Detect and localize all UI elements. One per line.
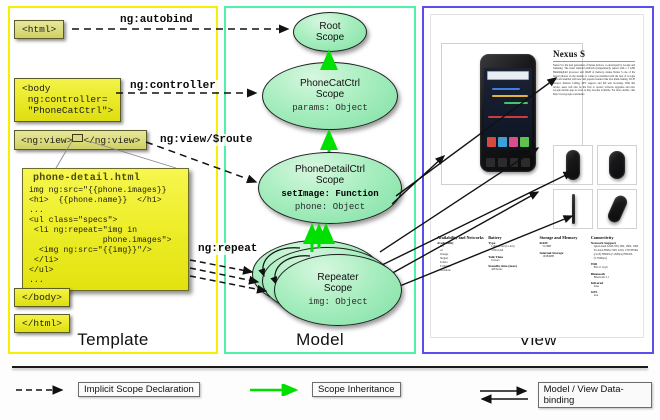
spec-val-wifi: 802.11 b/g/n bbox=[591, 266, 639, 270]
phone-back-icon bbox=[609, 151, 625, 179]
product-info: Nexus S Nexus S is the next generation o… bbox=[553, 49, 635, 97]
title-divider bbox=[553, 61, 635, 62]
scope-prop-setimage-text: setImage: Function bbox=[281, 189, 378, 199]
code-box-html-close: </html> bbox=[14, 314, 70, 333]
product-description: Nexus S is the next generation of Nexus … bbox=[553, 64, 635, 97]
spec-table: Availability and Networks Availability M… bbox=[437, 235, 639, 298]
thumbnail-grid bbox=[553, 145, 637, 229]
phone-front-icon bbox=[566, 150, 580, 180]
spec-val-bluetooth: Bluetooth 2.1 bbox=[591, 276, 639, 280]
spec-column-battery: Battery Type Lithium Ion (Li-Ion) 1500 m… bbox=[488, 235, 536, 298]
connector-label-ng-repeat: ng:repeat bbox=[196, 243, 259, 255]
legend-item-model-view-data-binding: Model / View Data-binding bbox=[478, 382, 652, 408]
spec-value: 1500 mAh bbox=[491, 249, 503, 252]
thumbnail-phone-front[interactable] bbox=[553, 145, 593, 185]
product-title: Nexus S bbox=[553, 49, 635, 59]
diagram-canvas: Template Model View <html> <body ng:cont… bbox=[0, 0, 660, 420]
thumbnail-phone-back[interactable] bbox=[597, 145, 637, 185]
spec-value: Singtel bbox=[440, 257, 448, 260]
connector-label-ng-autobind: ng:autobind bbox=[118, 14, 195, 26]
legend-label-model-view-data-binding: Model / View Data-binding bbox=[538, 382, 652, 408]
scope-title-repeater: Repeater Scope bbox=[317, 272, 358, 294]
ng-view-placeholder-icon bbox=[72, 134, 83, 142]
spec-val-ram: 512MB bbox=[540, 245, 588, 249]
spec-value: M1 bbox=[440, 245, 444, 248]
scope-bubble-phonecatctrl: PhoneCatCtrl Scope params: Object bbox=[262, 62, 398, 130]
spec-val-network: Quad-band GSM: 850, 900, 1800, 1900 Ex-b… bbox=[591, 245, 639, 261]
phone-app-dock bbox=[487, 137, 529, 147]
phone-side-icon bbox=[572, 194, 575, 224]
legend-item-scope-inheritance: Scope Inheritance bbox=[248, 382, 401, 397]
spec-value: Lithium Ion (Li-Ion) bbox=[491, 245, 514, 248]
code-box-html-open: <html> bbox=[14, 20, 64, 39]
scope-bubble-root: Root Scope bbox=[293, 12, 367, 52]
legend-icon-double-arrow bbox=[478, 386, 532, 404]
scope-prop-params: params: Object bbox=[292, 103, 368, 113]
spec-value: Vodafone bbox=[440, 269, 451, 272]
spec-value: Telstra bbox=[440, 261, 448, 264]
code-box-body-close: </body> bbox=[14, 288, 70, 307]
spec-value: o2 bbox=[440, 249, 443, 252]
rendered-page: Nexus S Nexus S is the next generation o… bbox=[430, 14, 644, 338]
column-label-model: Model bbox=[226, 330, 414, 350]
legend-label-scope-inheritance: Scope Inheritance bbox=[312, 382, 401, 397]
ng-view-open-tag: <ng:view> bbox=[21, 135, 72, 146]
spec-val-talk-time: 6 hours bbox=[488, 259, 536, 263]
legend-icon-solid-green-arrow bbox=[248, 384, 306, 396]
phone-hardware-buttons bbox=[486, 158, 530, 167]
spec-heading-availability: Availability and Networks bbox=[437, 235, 485, 240]
phone-hero-device bbox=[480, 54, 536, 172]
code-box-ng-view: <ng:view></ng:view> bbox=[14, 130, 147, 150]
scope-prop-setimage: setImage: Function bbox=[281, 189, 378, 199]
legend: Implicit Scope Declaration Scope Inherit… bbox=[8, 366, 652, 414]
legend-divider bbox=[12, 366, 648, 368]
thumbnail-phone-side[interactable] bbox=[553, 189, 593, 229]
spec-val-internal-storage: 16384MB bbox=[540, 255, 588, 259]
spec-heading-storage: Storage and Memory bbox=[540, 235, 588, 240]
spec-val-gps: true bbox=[591, 294, 639, 298]
scope-prop-phone: phone: Object bbox=[295, 202, 365, 212]
legend-icon-dashed-arrow bbox=[14, 384, 72, 396]
phone-hero-screen bbox=[484, 68, 532, 150]
scope-title-phonedetailctrl: PhoneDetailCtrl Scope bbox=[295, 164, 365, 186]
spec-val-battery-type: Lithium Ion (Li-Ion) 1500 mAh bbox=[488, 245, 536, 253]
phone-urlbar bbox=[487, 71, 529, 80]
connector-label-ng-controller: ng:controller bbox=[128, 80, 218, 92]
spec-heading-connectivity: Connectivity bbox=[591, 235, 639, 240]
ng-view-close-tag: </ng:view> bbox=[83, 135, 140, 146]
spec-heading-battery: Battery bbox=[488, 235, 536, 240]
scope-title-phonecatctrl: PhoneCatCtrl Scope bbox=[300, 78, 360, 100]
legend-item-implicit-scope-declaration: Implicit Scope Declaration bbox=[14, 382, 200, 397]
scope-bubble-repeater: Repeater Scope img: Object bbox=[274, 254, 402, 326]
connector-label-ng-view-route: ng:view/$route bbox=[158, 134, 254, 146]
scope-title-root: Root Scope bbox=[316, 21, 344, 43]
partial-template-code: img ng:src="{{phone.images}} <h1> {{phon… bbox=[23, 186, 188, 290]
spec-column-availability: Availability and Networks Availability M… bbox=[437, 235, 485, 298]
scope-bubble-phonedetailctrl: PhoneDetailCtrl Scope setImage: Function… bbox=[258, 152, 402, 224]
partial-template-filename: phone-detail.html bbox=[23, 169, 188, 186]
spec-column-connectivity: Connectivity Network Support Quad-band G… bbox=[591, 235, 639, 298]
spec-value: Orange bbox=[440, 253, 448, 256]
scope-prop-img: img: Object bbox=[308, 297, 367, 307]
legend-label-implicit-scope-declaration: Implicit Scope Declaration bbox=[78, 382, 200, 397]
thumbnail-phone-angle[interactable] bbox=[597, 189, 637, 229]
spec-value: T-Mobile bbox=[440, 265, 450, 268]
spec-column-storage: Storage and Memory RAM 512MB Internal St… bbox=[540, 235, 588, 298]
code-box-body-open: <body ng:controller= "PhoneCatCtrl"> bbox=[14, 78, 121, 122]
spec-val-infrared: false bbox=[591, 285, 639, 289]
phone-angle-icon bbox=[606, 194, 629, 225]
spec-val-standby: 428 hours bbox=[488, 268, 536, 272]
partial-template-card: phone-detail.html img ng:src="{{phone.im… bbox=[22, 168, 189, 291]
spec-val-availability: M1 o2 Orange Singtel Telstra T-Mobile Vo… bbox=[437, 245, 485, 272]
